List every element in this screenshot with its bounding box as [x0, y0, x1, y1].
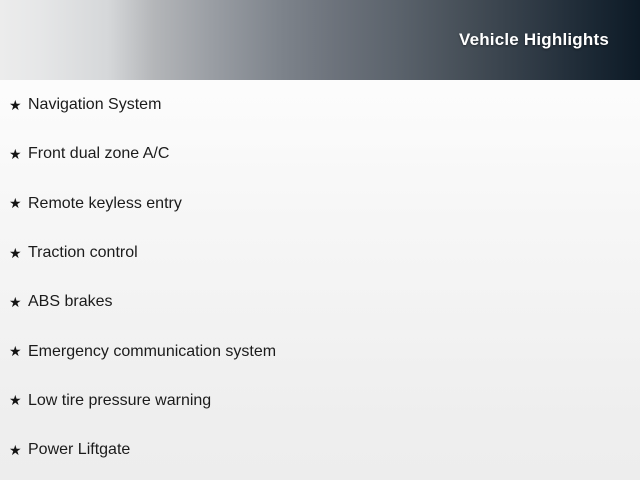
highlight-label: Front dual zone A/C [28, 144, 169, 163]
list-item: ★ ABS brakes [0, 277, 640, 326]
star-icon: ★ [9, 393, 28, 407]
list-item: ★ Power Liftgate [0, 425, 640, 474]
page-title: Vehicle Highlights [459, 30, 609, 50]
star-icon: ★ [9, 295, 28, 309]
highlight-label: Traction control [28, 243, 138, 262]
list-item: ★ Navigation System [0, 80, 640, 129]
highlight-label: Navigation System [28, 95, 161, 114]
highlight-label: Remote keyless entry [28, 194, 182, 213]
star-icon: ★ [9, 196, 28, 210]
highlight-label: Low tire pressure warning [28, 391, 211, 410]
highlight-label: ABS brakes [28, 292, 112, 311]
star-icon: ★ [9, 443, 28, 457]
star-icon: ★ [9, 246, 28, 260]
list-item: ★ Low tire pressure warning [0, 376, 640, 425]
list-item: ★ Traction control [0, 228, 640, 277]
page-header-banner: Vehicle Highlights [0, 0, 640, 80]
list-item: ★ Emergency communication system [0, 326, 640, 375]
vehicle-highlights-list: ★ Navigation System ★ Front dual zone A/… [0, 80, 640, 474]
star-icon: ★ [9, 147, 28, 161]
highlight-label: Emergency communication system [28, 342, 276, 361]
list-item: ★ Remote keyless entry [0, 179, 640, 228]
vehicle-highlights-page: Vehicle Highlights ★ Navigation System ★… [0, 0, 640, 480]
star-icon: ★ [9, 98, 28, 112]
list-item: ★ Front dual zone A/C [0, 129, 640, 178]
star-icon: ★ [9, 344, 28, 358]
highlight-label: Power Liftgate [28, 440, 130, 459]
